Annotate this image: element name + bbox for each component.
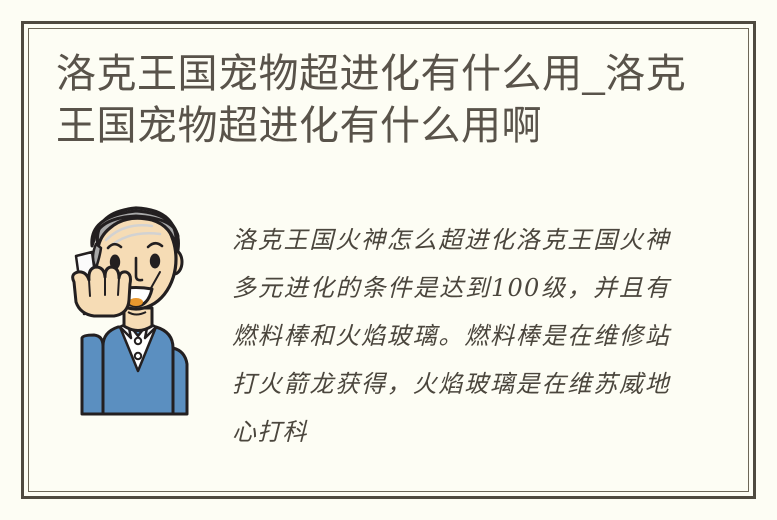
page-title: 洛克王国宠物超进化有什么用_洛克王国宠物超进化有什么用啊 bbox=[56, 48, 696, 152]
illustration-elderly-man bbox=[56, 196, 216, 422]
content-area: 洛克王国火神怎么超进化洛克王国火神多元进化的条件是达到100级，并且有燃料棒和火… bbox=[56, 196, 716, 436]
page-root: 洛克王国宠物超进化有什么用_洛克王国宠物超进化有什么用啊 bbox=[0, 0, 777, 520]
article-body-text: 洛克王国火神怎么超进化洛克王国火神多元进化的条件是达到100级，并且有燃料棒和火… bbox=[232, 216, 670, 456]
elderly-man-cupping-ear-icon bbox=[56, 196, 216, 422]
